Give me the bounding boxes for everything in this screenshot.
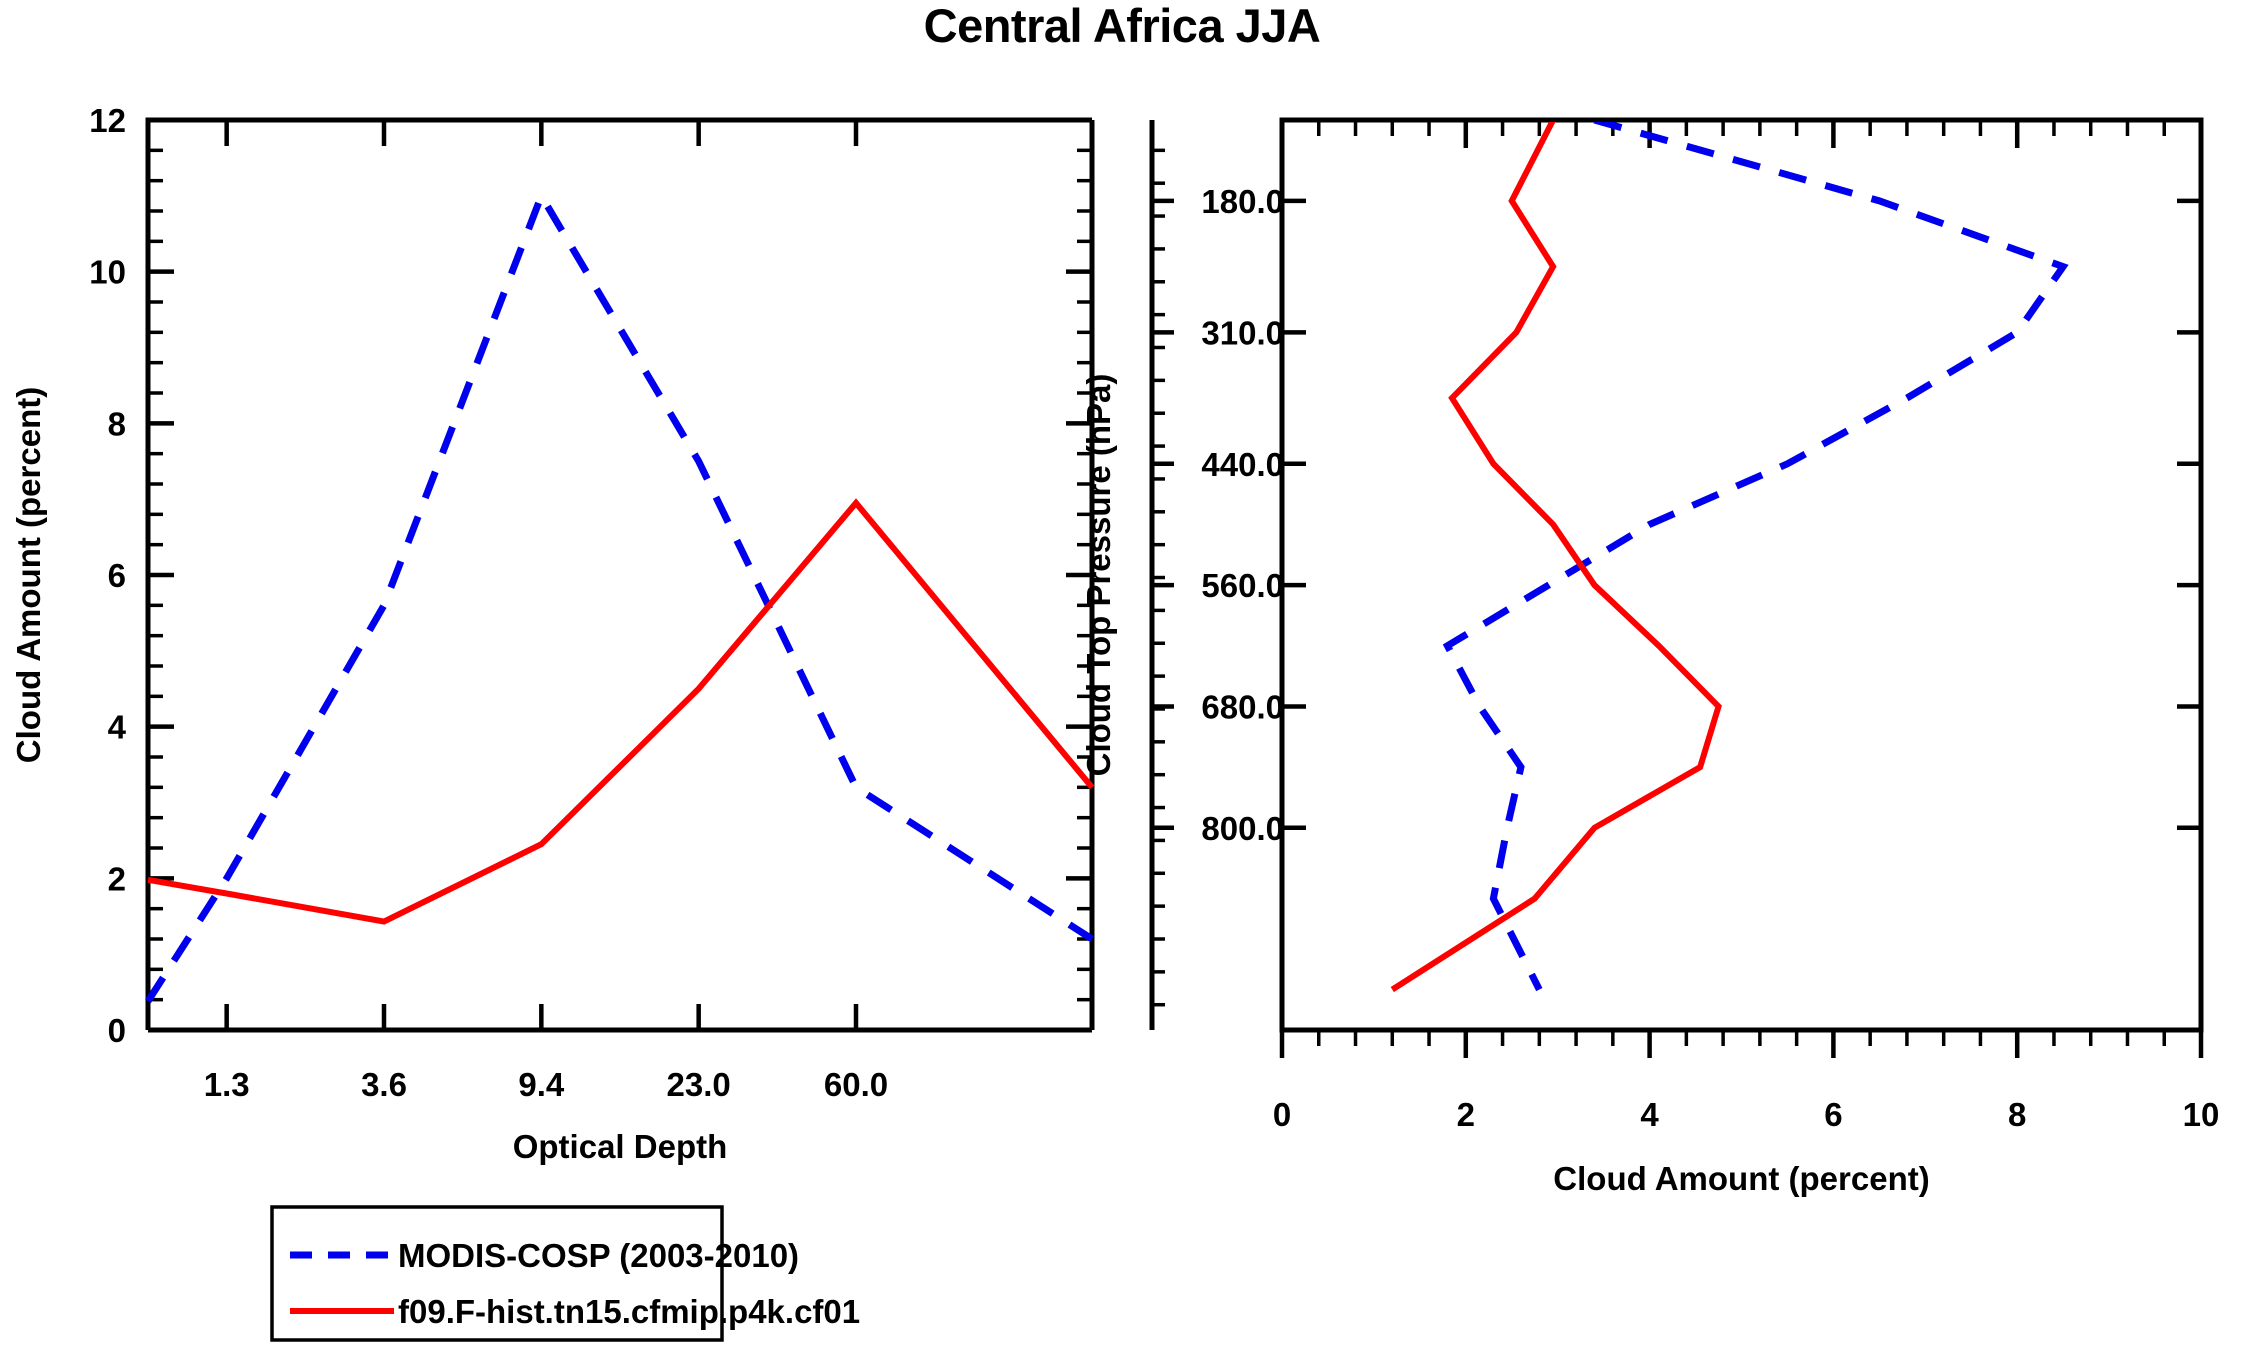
pressure-tick-label: 310.0	[1201, 314, 1284, 351]
pressure-tick-label: 680.0	[1201, 688, 1284, 725]
x-tick-label: 4	[1640, 1096, 1659, 1133]
pressure-tick-label: 800.0	[1201, 810, 1284, 847]
x-axis-title: Cloud Amount (percent)	[1553, 1160, 1929, 1197]
x-tick-label: 3.6	[361, 1066, 407, 1103]
y-tick-label: 0	[108, 1012, 126, 1049]
legend-label-modis-cosp: MODIS-COSP (2003-2010)	[398, 1237, 799, 1274]
x-tick-label: 1.3	[204, 1066, 250, 1103]
y-tick-label: 2	[108, 860, 126, 897]
x-tick-label: 60.0	[824, 1066, 888, 1103]
page-title: Central Africa JJA	[924, 0, 1321, 52]
x-tick-label: 6	[1824, 1096, 1842, 1133]
x-axis-title: Optical Depth	[513, 1128, 728, 1165]
y-tick-label: 12	[89, 102, 126, 139]
x-tick-label: 10	[2183, 1096, 2220, 1133]
pressure-tick-label: 560.0	[1201, 567, 1284, 604]
x-tick-label: 23.0	[667, 1066, 731, 1103]
y-tick-label: 10	[89, 254, 126, 291]
x-tick-label: 9.4	[518, 1066, 565, 1103]
y-tick-label: 4	[108, 709, 127, 746]
y-axis-title: Cloud Amount (percent)	[10, 387, 47, 763]
y-tick-label: 6	[108, 557, 126, 594]
y-tick-label: 8	[108, 405, 126, 442]
y-axis-title: Cloud Top Pressure (hPa)	[1080, 374, 1117, 777]
x-tick-label: 0	[1273, 1096, 1291, 1133]
legend-label-model-run: f09.F-hist.tn15.cfmip.p4k.cf01	[398, 1293, 860, 1330]
pressure-tick-label: 180.0	[1201, 183, 1284, 220]
x-tick-label: 2	[1457, 1096, 1475, 1133]
pressure-tick-label: 440.0	[1201, 446, 1284, 483]
figure-canvas: Central Africa JJA 0246810121.33.69.423.…	[0, 0, 2241, 1367]
x-tick-label: 8	[2008, 1096, 2026, 1133]
